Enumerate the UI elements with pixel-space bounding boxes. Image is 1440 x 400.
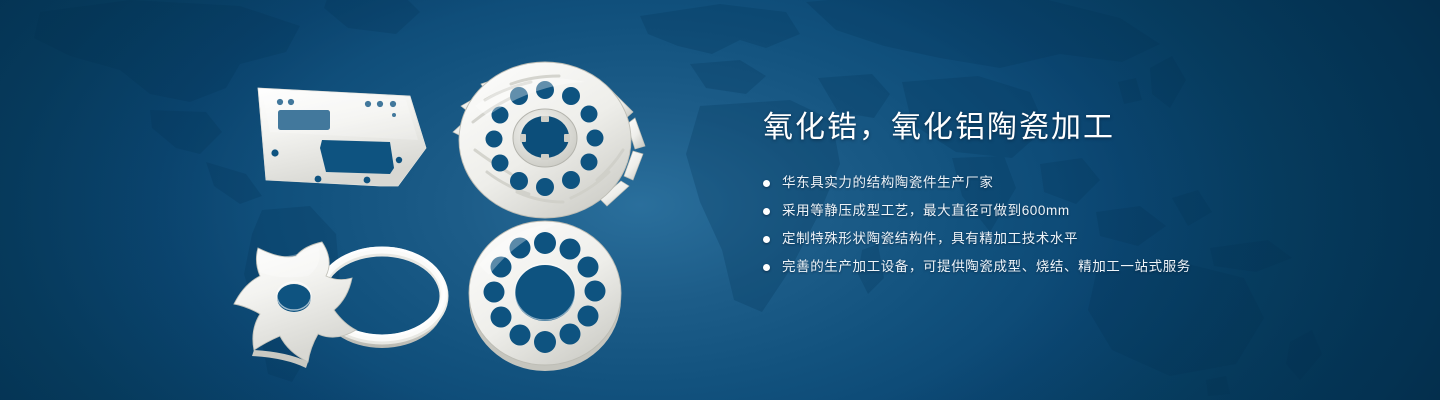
feature-text: 完善的生产加工设备，可提供陶瓷成型、烧结、精加工一站式服务 bbox=[782, 256, 1191, 278]
bullet-dot-icon bbox=[763, 180, 770, 187]
list-item: 定制特殊形状陶瓷结构件，具有精加工技术水平 bbox=[763, 228, 1383, 250]
feature-text: 采用等静压成型工艺，最大直径可做到600mm bbox=[782, 200, 1070, 222]
ceramic-perforated-disc bbox=[469, 221, 621, 371]
page-title: 氧化锆，氧化铝陶瓷加工 bbox=[763, 108, 1383, 148]
ceramic-machined-plate bbox=[258, 88, 426, 186]
list-item: 完善的生产加工设备，可提供陶瓷成型、烧结、精加工一站式服务 bbox=[763, 256, 1383, 278]
promo-banner: 氧化锆，氧化铝陶瓷加工 华东具实力的结构陶瓷件生产厂家 采用等静压成型工艺，最大… bbox=[0, 0, 1440, 400]
bullet-dot-icon bbox=[763, 264, 770, 271]
list-item: 华东具实力的结构陶瓷件生产厂家 bbox=[763, 172, 1383, 194]
bullet-dot-icon bbox=[763, 236, 770, 243]
feature-list: 华东具实力的结构陶瓷件生产厂家 采用等静压成型工艺，最大直径可做到600mm 定… bbox=[763, 172, 1383, 278]
feature-text: 华东具实力的结构陶瓷件生产厂家 bbox=[782, 172, 994, 194]
ceramic-products-image bbox=[230, 40, 710, 380]
feature-text: 定制特殊形状陶瓷结构件，具有精加工技术水平 bbox=[782, 228, 1078, 250]
banner-copy: 氧化锆，氧化铝陶瓷加工 华东具实力的结构陶瓷件生产厂家 采用等静压成型工艺，最大… bbox=[763, 108, 1383, 284]
bullet-dot-icon bbox=[763, 208, 770, 215]
list-item: 采用等静压成型工艺，最大直径可做到600mm bbox=[763, 200, 1383, 222]
ceramic-vane-impeller bbox=[453, 62, 645, 222]
